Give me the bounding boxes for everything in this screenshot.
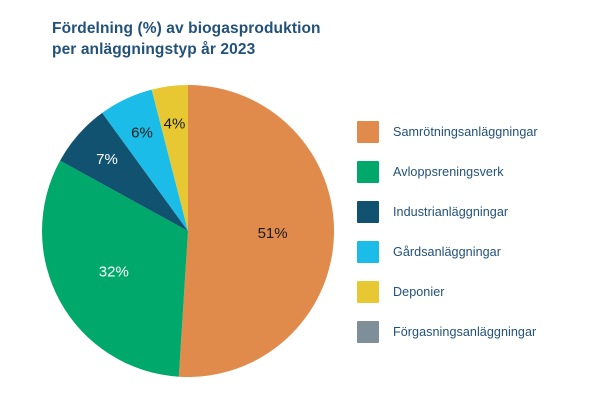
chart-legend: Samrötningsanläggningar Avloppsreningsve…	[357, 112, 607, 352]
pie-slices-group	[42, 85, 334, 377]
legend-item-deponier[interactable]: Deponier	[357, 272, 607, 312]
pie-slice-value-label-industrianlaggningar: 7%	[96, 151, 118, 168]
legend-item-forgasningsanlaggningar[interactable]: Förgasningsanläggningar	[357, 312, 607, 352]
legend-swatch-icon-samrotningsanlaggningar	[357, 121, 379, 143]
pie-slice-samrotningsanlaggningar[interactable]	[179, 85, 334, 377]
legend-item-avloppsreningsverk[interactable]: Avloppsreningsverk	[357, 152, 607, 192]
pie-slice-value-label-avloppsreningsverk: 32%	[99, 263, 129, 280]
legend-swatch-icon-forgasningsanlaggningar	[357, 321, 379, 343]
pie-slice-value-label-deponier: 4%	[164, 115, 186, 132]
legend-item-samrotningsanlaggningar[interactable]: Samrötningsanläggningar	[357, 112, 607, 152]
legend-label-forgasningsanlaggningar: Förgasningsanläggningar	[393, 325, 536, 339]
legend-item-industrianlaggningar[interactable]: Industrianläggningar	[357, 192, 607, 232]
legend-label-deponier: Deponier	[393, 285, 445, 299]
chart-title-line-2: per anläggningstyp år 2023	[52, 41, 255, 58]
legend-label-gardsanlaggningar: Gårdsanläggningar	[393, 245, 501, 259]
chart-title: Fördelning (%) av biogasproduktionper an…	[52, 18, 382, 60]
pie-svg: 51%32%7%6%4%	[42, 85, 334, 377]
legend-item-gardsanlaggningar[interactable]: Gårdsanläggningar	[357, 232, 607, 272]
legend-swatch-icon-avloppsreningsverk	[357, 161, 379, 183]
pie-plot-area: 51%32%7%6%4%	[42, 85, 334, 377]
legend-label-samrotningsanlaggningar: Samrötningsanläggningar	[393, 125, 538, 139]
legend-label-avloppsreningsverk: Avloppsreningsverk	[393, 165, 504, 179]
legend-swatch-icon-industrianlaggningar	[357, 201, 379, 223]
pie-slice-value-label-samrotningsanlaggningar: 51%	[258, 225, 288, 242]
pie-slice-value-label-gardsanlaggningar: 6%	[131, 125, 153, 142]
legend-label-industrianlaggningar: Industrianläggningar	[393, 205, 508, 219]
chart-title-line-1: Fördelning (%) av biogasproduktion	[52, 20, 321, 37]
legend-swatch-icon-gardsanlaggningar	[357, 241, 379, 263]
pie-chart-figure: Fördelning (%) av biogasproduktionper an…	[0, 0, 613, 415]
legend-swatch-icon-deponier	[357, 281, 379, 303]
